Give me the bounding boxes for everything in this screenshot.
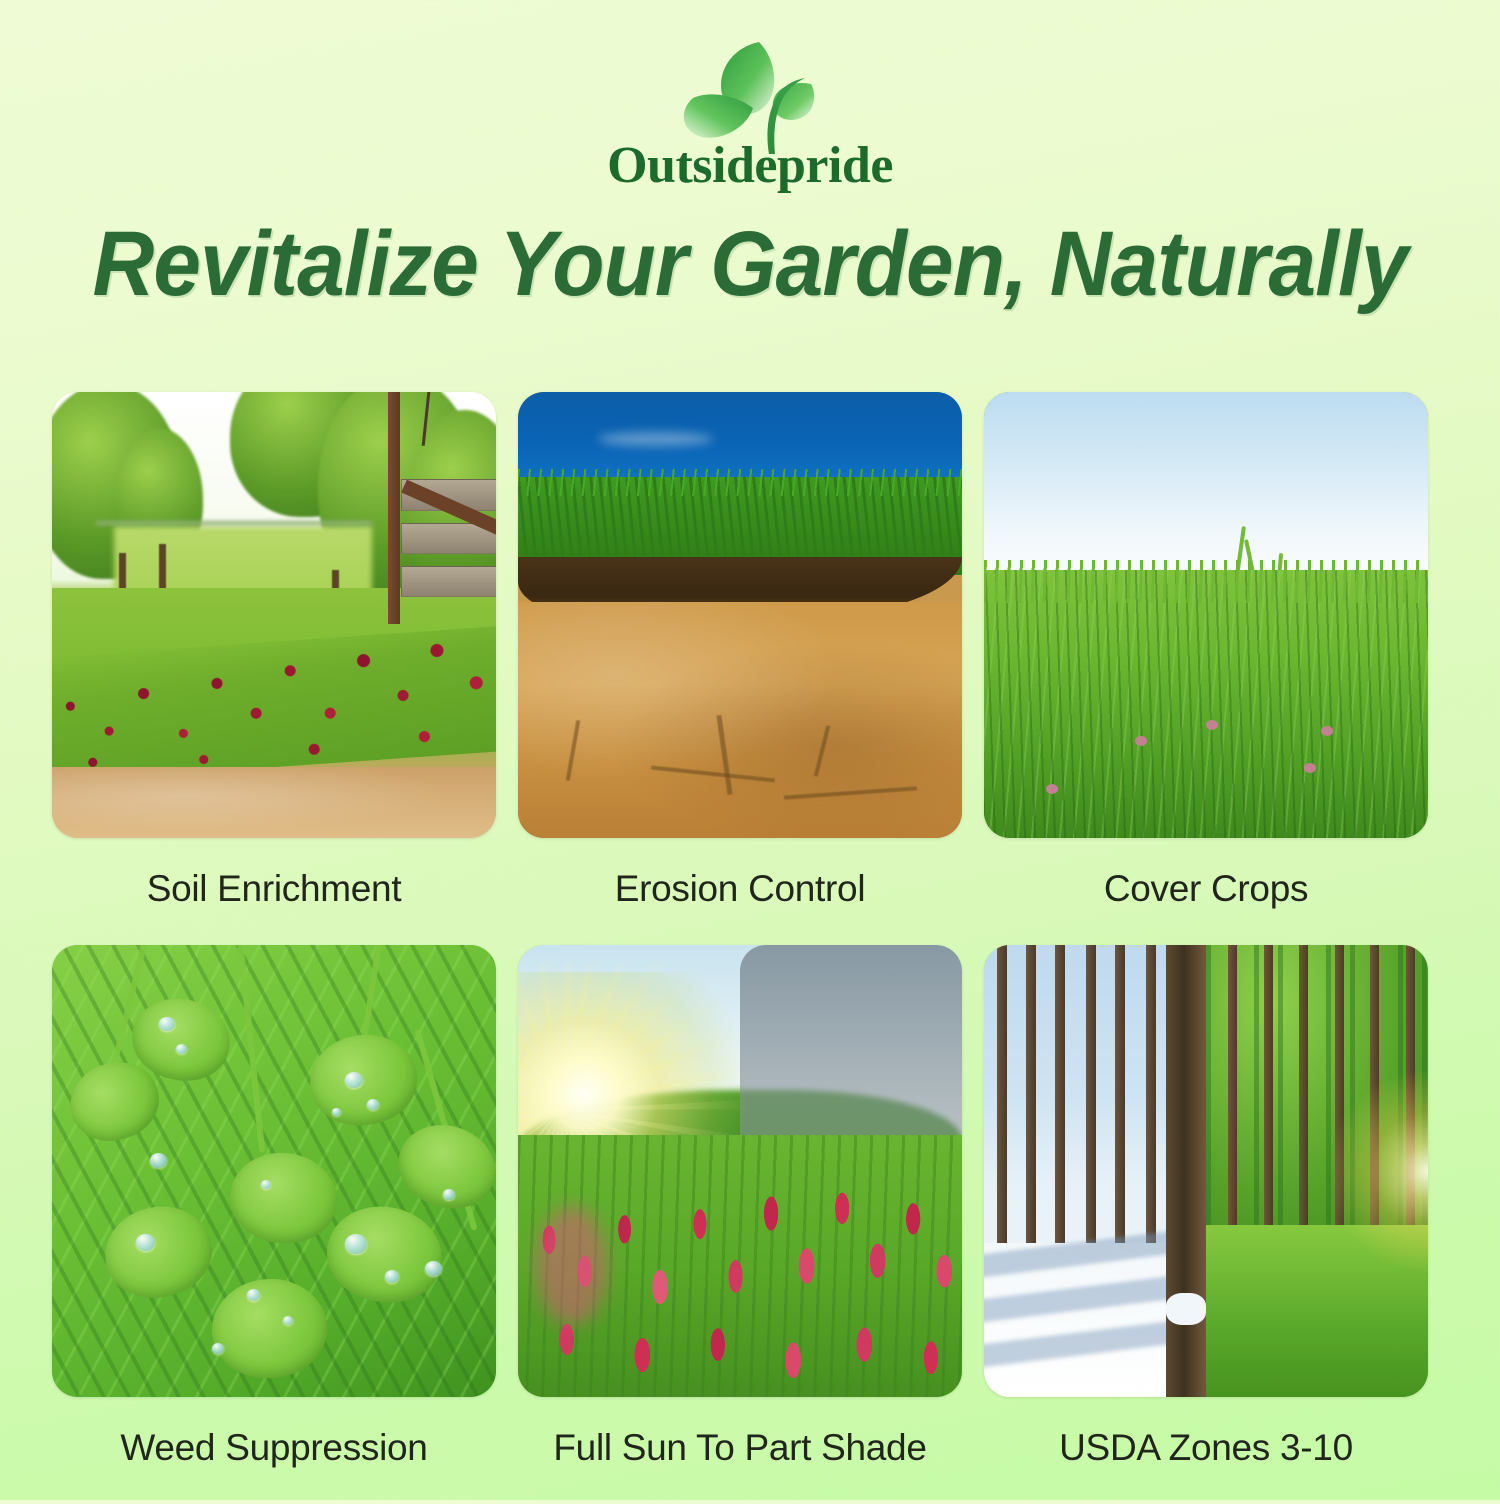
feature-caption: Soil Enrichment: [52, 838, 496, 945]
clover-field-with-trees-photo: [52, 392, 496, 838]
sun-shade-split-clover-photo: [518, 945, 962, 1397]
winter-summer-forest-split-photo: [984, 945, 1428, 1397]
feature-card-usda-zones: USDA Zones 3-10: [984, 945, 1428, 1504]
green-cover-crop-field-photo: [984, 392, 1428, 838]
wooden-gate: [372, 392, 496, 624]
feature-caption: Full Sun To Part Shade: [518, 1397, 962, 1504]
dewy-clover-leaves-macro-photo: [52, 945, 496, 1397]
summer-half: [1206, 945, 1428, 1397]
feature-card-full-sun-to-part-shade: Full Sun To Part Shade: [518, 945, 962, 1504]
feature-card-cover-crops: Cover Crops: [984, 392, 1428, 945]
feature-caption: Weed Suppression: [52, 1397, 496, 1504]
feature-card-weed-suppression: Weed Suppression: [52, 945, 496, 1504]
brand-name: Outsidepride: [607, 140, 893, 192]
feature-caption: USDA Zones 3-10: [984, 1397, 1428, 1504]
brand-logo: Outsidepride: [0, 0, 1500, 192]
feature-caption: Cover Crops: [984, 838, 1428, 945]
page-title: Revitalize Your Garden, Naturally: [53, 218, 1448, 310]
feature-card-erosion-control: Erosion Control: [518, 392, 962, 945]
feature-card-soil-enrichment: Soil Enrichment: [52, 392, 496, 945]
feature-caption: Erosion Control: [518, 838, 962, 945]
shade-overlay: [740, 945, 962, 1153]
soil-profile-cutaway-photo: [518, 392, 962, 838]
feature-grid: Soil Enrichment Erosion Control Cover Cr…: [52, 392, 1452, 1504]
